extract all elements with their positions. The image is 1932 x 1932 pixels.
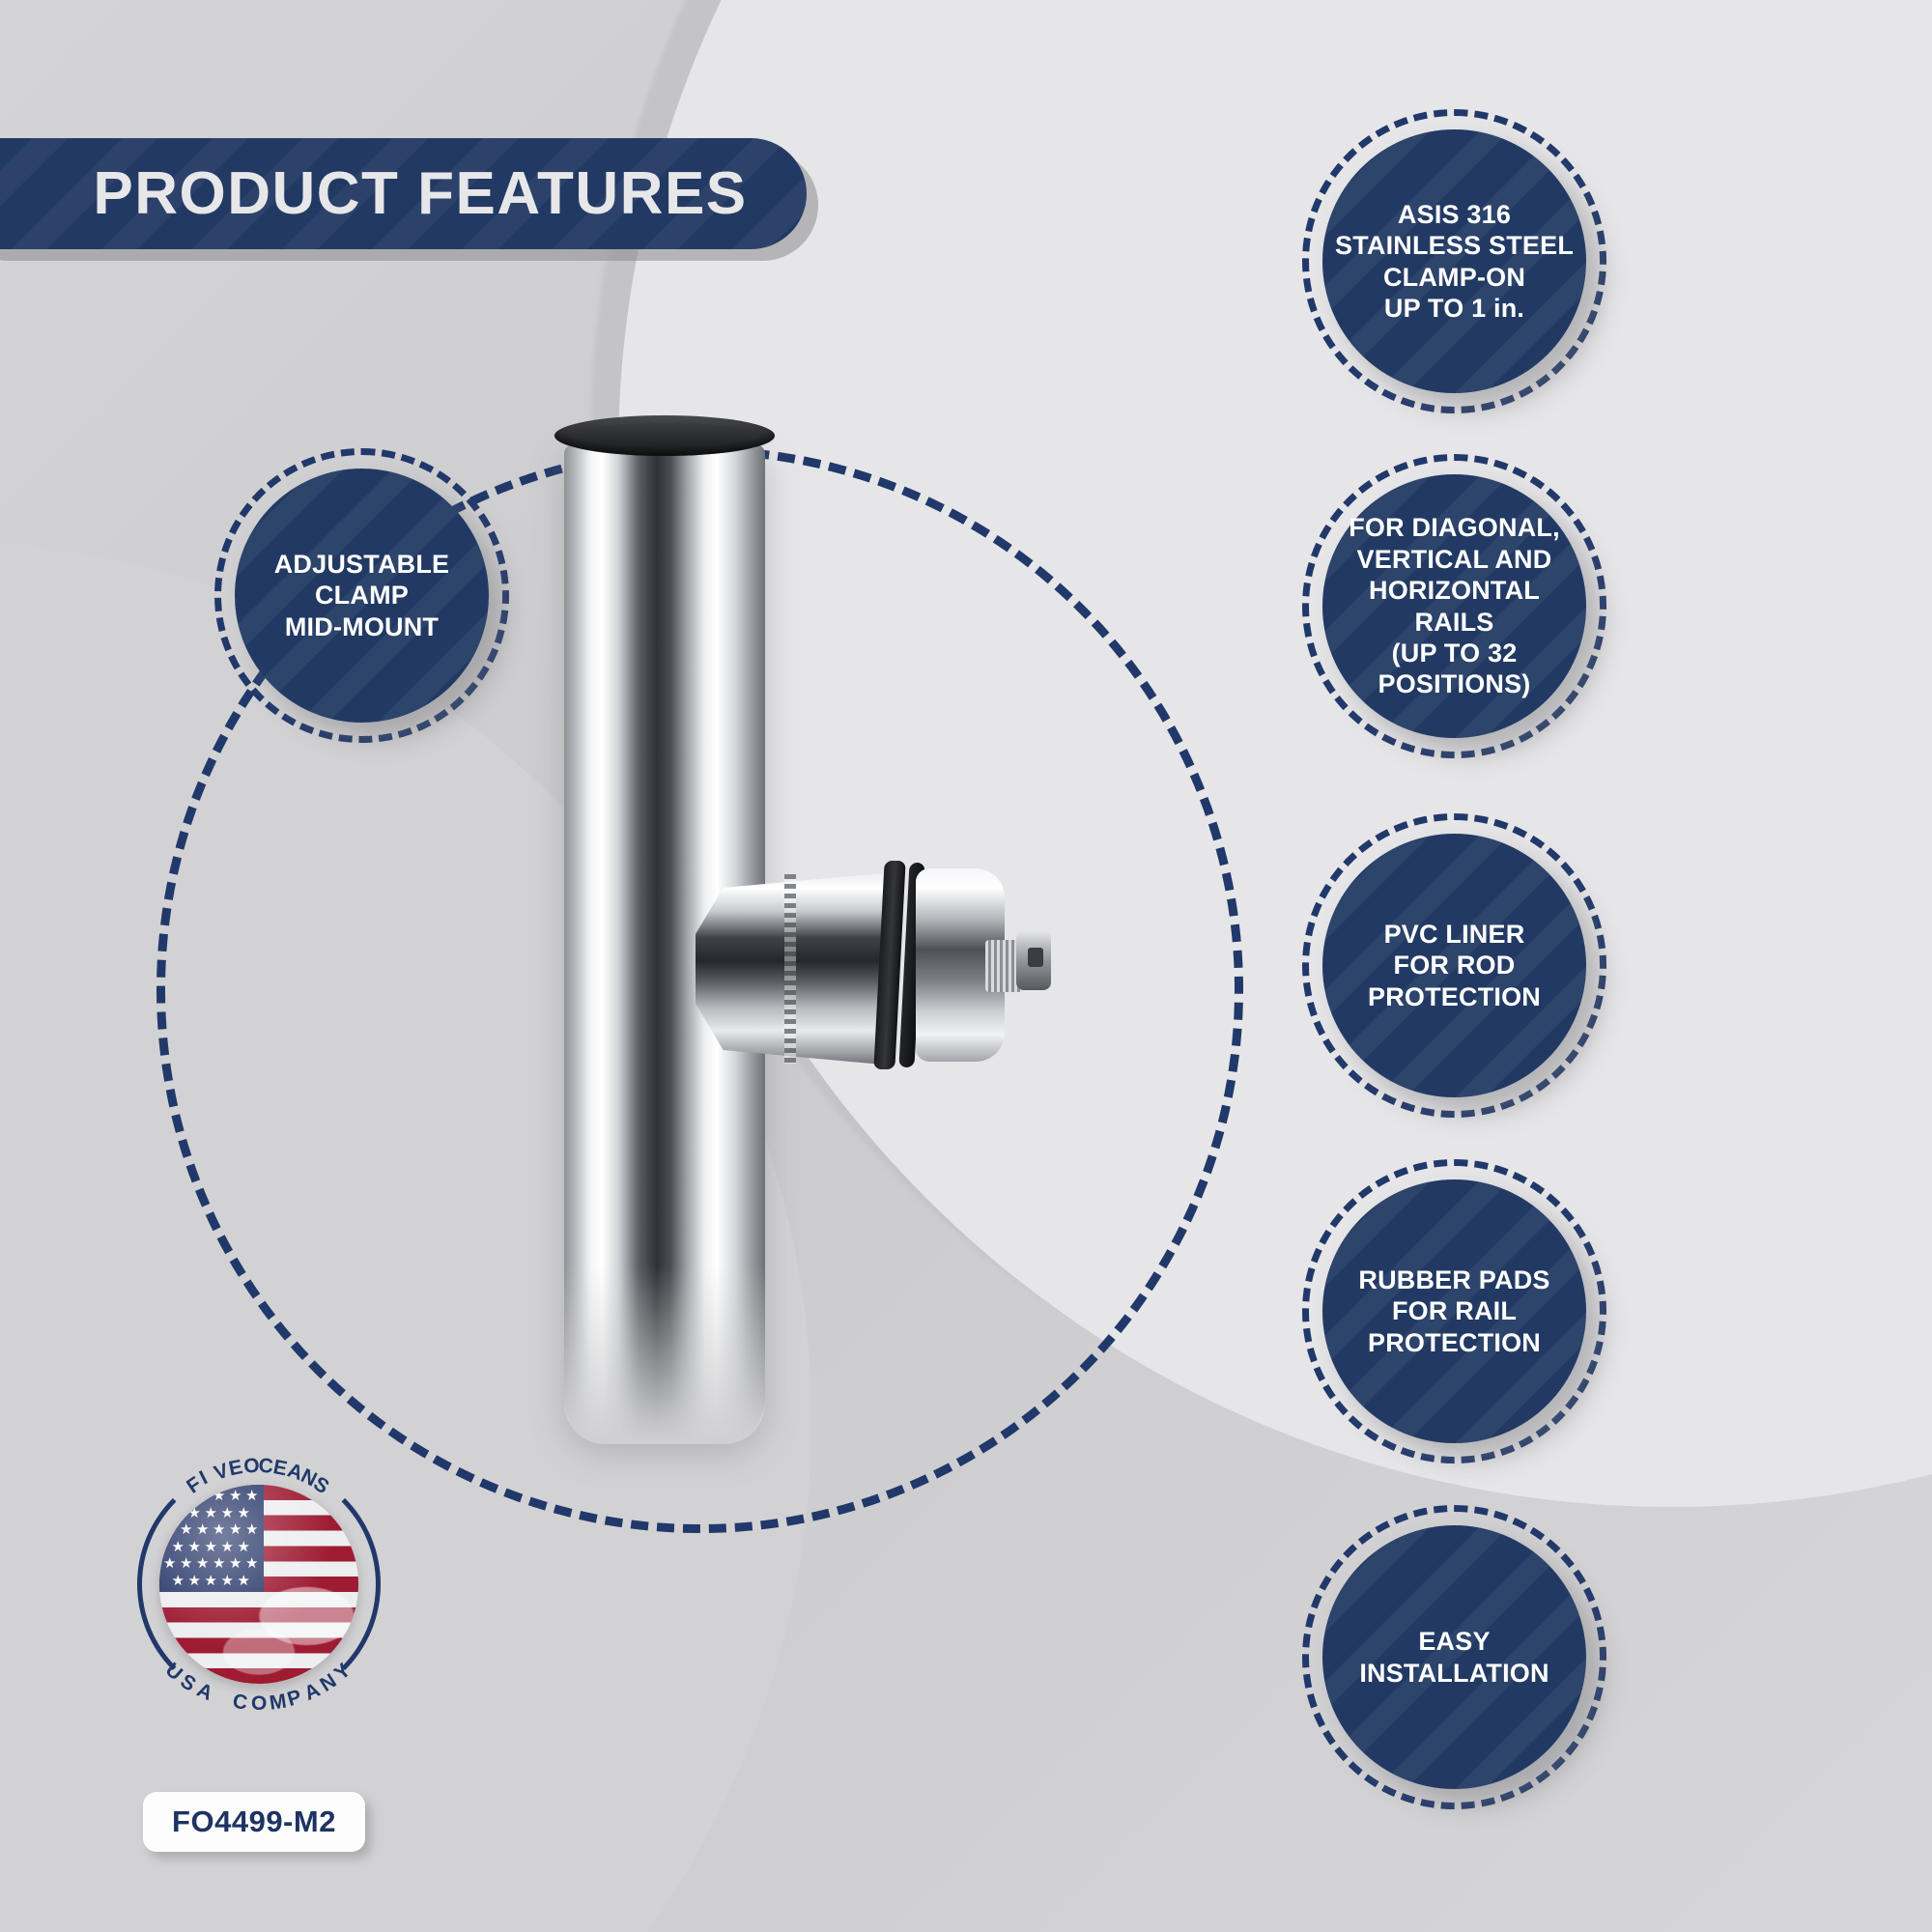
product-image [541,415,1043,1478]
feature-label: ADJUSTABLE CLAMP MID-MOUNT [261,549,464,642]
page-title: PRODUCT FEATURES [1,159,747,228]
feature-label: ASIS 316 STAINLESS STEEL CLAMP-ON UP TO … [1321,199,1587,325]
clamp-bolt-hex-socket [1028,948,1043,967]
badge-tagline-char: P [285,1686,304,1712]
feature-bubble-stainless-clamp-on[interactable]: ASIS 316 STAINLESS STEEL CLAMP-ON UP TO … [1302,109,1606,413]
feature-bubble-rail-orientations[interactable]: FOR DIAGONAL, VERTICAL AND HORIZONTAL RA… [1302,454,1606,758]
clamp-serrated-seam [784,874,796,1064]
badge-tagline-text: USA COMPANY [124,1449,394,1719]
page-title-banner: PRODUCT FEATURES [0,138,807,249]
tube-bottom-fade [564,1265,765,1444]
feature-bubble-pvc-liner[interactable]: PVC LINER FOR ROD PROTECTION [1302,813,1606,1118]
sku-text: FO4499-M2 [172,1804,336,1839]
feature-bubble-rubber-pads[interactable]: RUBBER PADS FOR RAIL PROTECTION [1302,1159,1606,1463]
rubber-cap-inner [568,423,761,446]
feature-label: EASY INSTALLATION [1346,1626,1562,1689]
sku-badge: FO4499-M2 [143,1792,365,1852]
badge-tagline-char: O [251,1692,267,1716]
feature-bubble-easy-installation[interactable]: EASY INSTALLATION [1302,1505,1606,1809]
feature-label: RUBBER PADS FOR RAIL PROTECTION [1345,1264,1563,1358]
feature-label: FOR DIAGONAL, VERTICAL AND HORIZONTAL RA… [1315,512,1594,699]
badge-tagline-char: C [231,1690,248,1716]
feature-bubble-adjustable-clamp-mid-mount[interactable]: ADJUSTABLE CLAMP MID-MOUNT [214,448,509,743]
usa-company-badge: ★★★★★★★★★★★★★★★★★★★★★★★★★★★★★★★★★ FIVEOC… [124,1449,394,1719]
clamp-assembly [696,855,1005,1082]
feature-label: PVC LINER FOR ROD PROTECTION [1354,919,1554,1012]
badge-tagline-char: A [193,1679,216,1706]
